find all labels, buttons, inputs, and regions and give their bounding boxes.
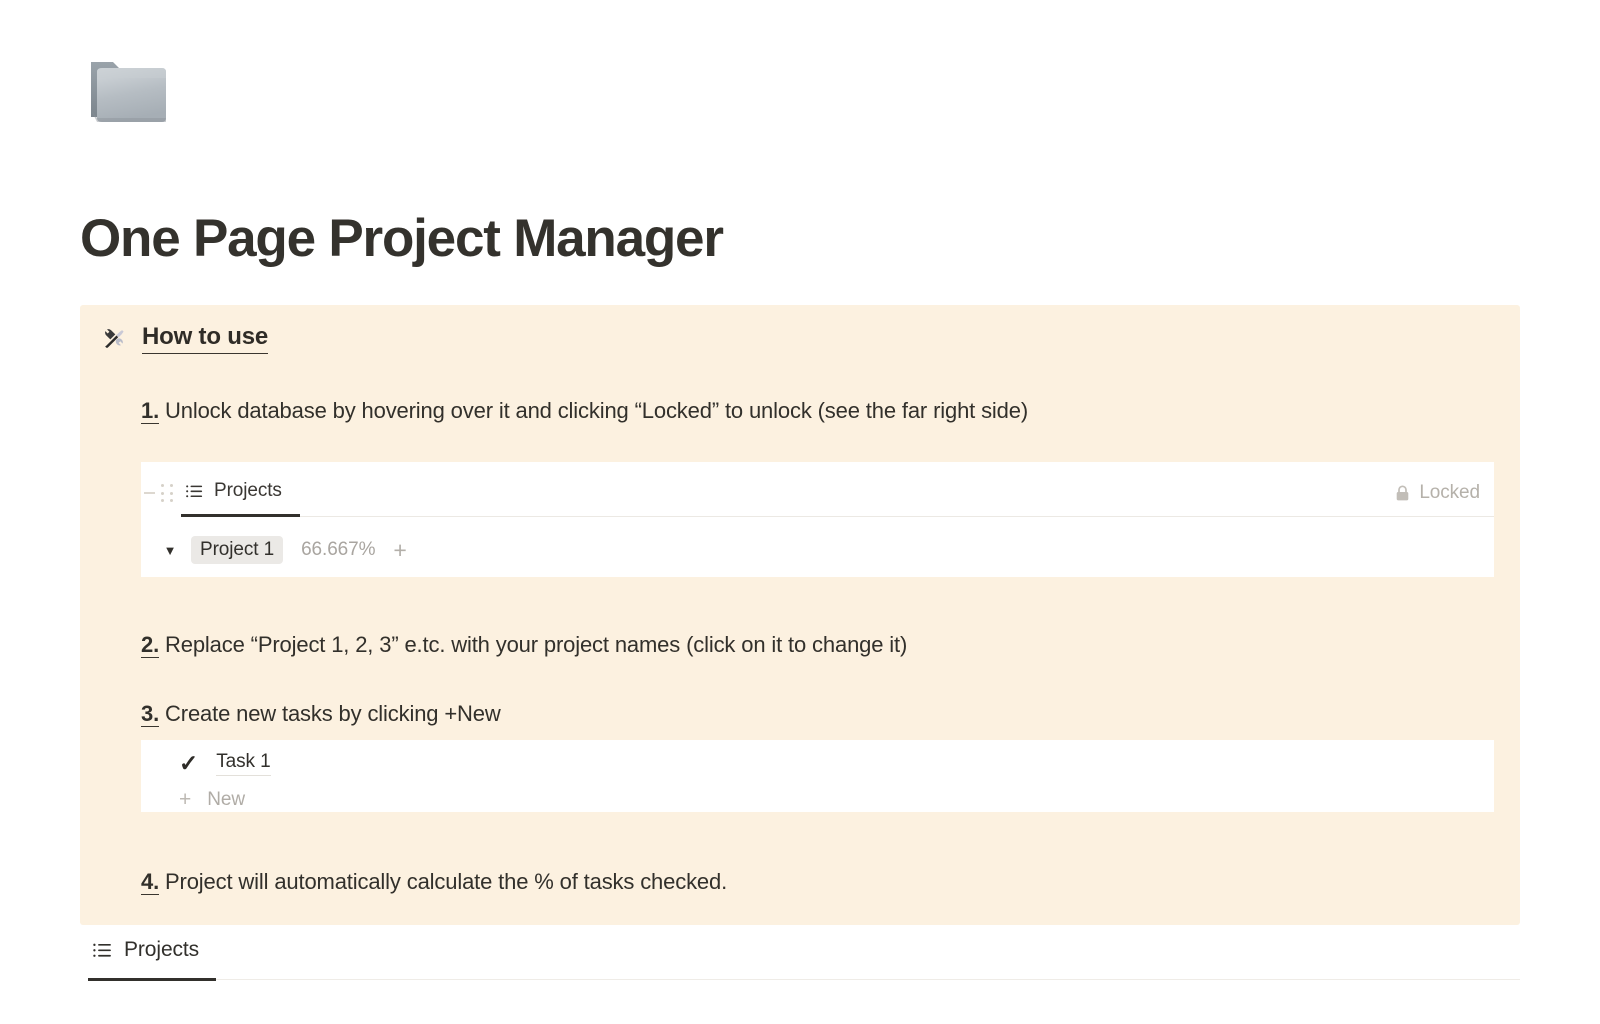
active-tab-underline <box>181 514 300 517</box>
add-row-plus-icon[interactable]: + <box>393 539 406 562</box>
step-number: 2. <box>141 632 159 658</box>
step-number: 3. <box>141 701 159 727</box>
task-label[interactable]: Task 1 <box>216 751 270 776</box>
step-text: Replace “Project 1, 2, 3” e.tc. with you… <box>159 632 907 657</box>
instruction-step-4: 4. Project will automatically calculate … <box>141 867 727 897</box>
step-text: Unlock database by hovering over it and … <box>159 398 1028 423</box>
toolbar-divider <box>300 516 1494 517</box>
project-name-chip[interactable]: Project 1 <box>191 536 283 564</box>
instruction-step-1: 1. Unlock database by hovering over it a… <box>141 396 1028 426</box>
hammer-and-wrench-icon <box>102 326 128 350</box>
folder-icon[interactable] <box>86 44 190 148</box>
step-text: Create new tasks by clicking +New <box>159 701 501 726</box>
bottom-database: Projects <box>80 938 1520 988</box>
bottom-tab-label: Projects <box>124 938 199 962</box>
bottom-active-tab-underline <box>88 978 216 981</box>
chevron-down-icon[interactable]: ▼ <box>157 544 183 557</box>
list-icon <box>92 940 113 961</box>
collapse-dash-icon[interactable] <box>144 492 155 494</box>
new-task-button[interactable]: + New <box>141 787 1494 812</box>
list-icon <box>185 482 204 501</box>
database-tab-label: Projects <box>214 480 282 502</box>
page-root: One Page Project Manager How to use 1. U… <box>0 0 1600 1024</box>
bottom-tab-divider <box>216 979 1520 980</box>
instruction-step-3: 3. Create new tasks by clicking +New <box>141 699 501 729</box>
bottom-tab-projects[interactable]: Projects <box>92 938 199 962</box>
lock-status-label: Locked <box>1419 482 1480 504</box>
instruction-step-2: 2. Replace “Project 1, 2, 3” e.tc. with … <box>141 630 907 660</box>
database-toolbar: Projects Locked <box>141 462 1494 527</box>
database-row-project-1[interactable]: ▼ Project 1 66.667% + <box>141 530 407 570</box>
callout-header: How to use <box>102 323 268 354</box>
step-number: 1. <box>141 398 159 424</box>
project-progress-percent: 66.667% <box>301 539 375 561</box>
step-text: Project will automatically calculate the… <box>159 869 727 894</box>
checkmark-icon[interactable]: ✓ <box>179 752 198 775</box>
database-tab-projects[interactable]: Projects <box>185 480 282 516</box>
plus-icon: + <box>179 789 191 810</box>
step-number: 4. <box>141 869 159 895</box>
callout-title: How to use <box>142 323 268 354</box>
drag-handle-icon[interactable] <box>161 484 175 504</box>
tasks-database-block[interactable]: ✓ Task 1 + New <box>141 740 1494 812</box>
page-title: One Page Project Manager <box>80 208 723 271</box>
lock-icon <box>1395 485 1410 502</box>
how-to-use-callout: How to use 1. Unlock database by hoverin… <box>80 305 1520 925</box>
lock-status-button[interactable]: Locked <box>1395 482 1480 504</box>
task-row[interactable]: ✓ Task 1 <box>141 740 1494 787</box>
new-task-label: New <box>207 789 245 811</box>
projects-database-block[interactable]: Projects Locked ▼ Project 1 <box>141 462 1494 577</box>
